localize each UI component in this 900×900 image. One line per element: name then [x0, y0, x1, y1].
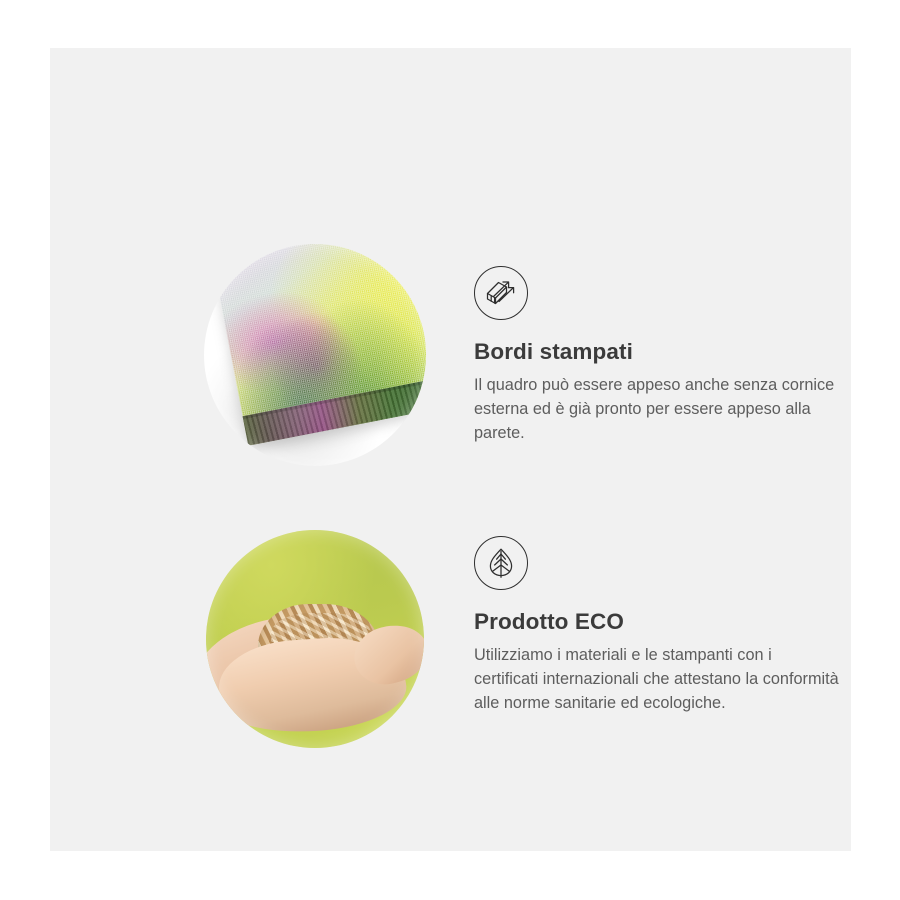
wood-chips-in-hands-photo: [206, 530, 424, 748]
product-features-graphic: Bordi stampati Il quadro può essere appe…: [0, 0, 900, 900]
feature-description-eco-product: Utilizziamo i materiali e le stampanti c…: [474, 644, 840, 716]
leaf-icon: [474, 536, 528, 590]
feature-title-eco-product: Prodotto ECO: [474, 608, 844, 635]
feature-eco-product: Prodotto ECO Utilizziamo i materiali e l…: [50, 48, 900, 900]
content-panel: Bordi stampati Il quadro può essere appe…: [50, 48, 851, 851]
feature-text-block-eco-product: Prodotto ECO Utilizziamo i materiali e l…: [474, 536, 844, 716]
